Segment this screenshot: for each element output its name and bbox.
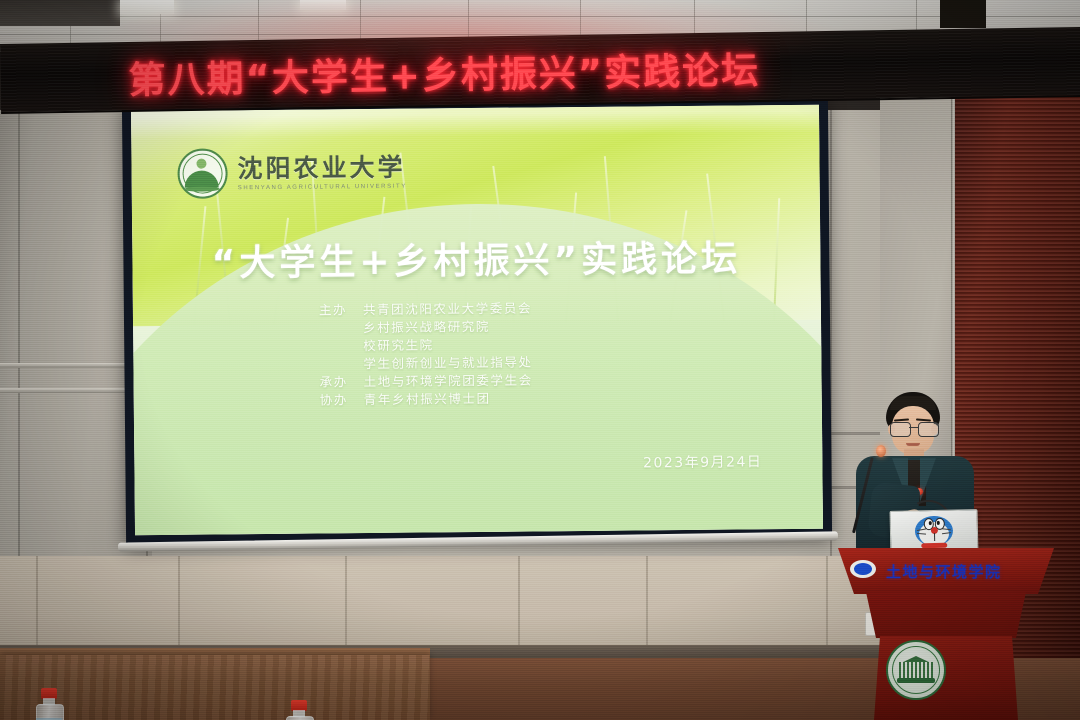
slide-organizer-list: 主办 共青团沈阳农业大学委员会 乡村振兴战略研究院 校研究生院 学生创新创业与就… (319, 299, 533, 409)
glasses-icon (889, 422, 939, 435)
list-item: 承办 土地与环境学院团委学生会 (320, 371, 533, 391)
row-value: 学生创新创业与就业指导处 (363, 353, 532, 373)
list-item: 校研究生院 (319, 335, 532, 355)
row-value: 乡村振兴战略研究院 (363, 318, 490, 337)
podium-badge-icon (850, 560, 876, 578)
row-label: 协办 (320, 391, 350, 409)
foreground-table (0, 655, 430, 720)
university-seal-icon (886, 640, 946, 700)
microphone-head[interactable] (876, 445, 886, 457)
led-banner-text: 第八期“大学生+乡村振兴”实践论坛 (128, 40, 760, 104)
row-value: 土地与环境学院团委学生会 (364, 371, 533, 391)
ceiling-light (300, 0, 346, 10)
row-label (319, 319, 349, 337)
university-name-cn: 沈阳农业大学 (237, 154, 406, 181)
ceiling-corner-box (940, 0, 986, 28)
row-label: 承办 (320, 373, 350, 391)
list-item: 协办 青年乡村振兴博士团 (320, 389, 533, 409)
university-name-en: SHENYANG AGRICULTURAL UNIVERSITY (238, 183, 407, 191)
row-label: 主办 (319, 301, 349, 319)
row-label (319, 355, 349, 373)
row-value: 共青团沈阳农业大学委员会 (363, 299, 532, 319)
row-value: 青年乡村振兴博士团 (364, 390, 491, 409)
podium: 土地与环境学院 (838, 548, 1054, 720)
list-item: 主办 共青团沈阳农业大学委员会 (319, 299, 532, 319)
projection-screen: 沈阳农业大学 SHENYANG AGRICULTURAL UNIVERSITY … (122, 97, 832, 544)
row-value: 校研究生院 (363, 336, 434, 355)
university-emblem-icon (177, 148, 227, 198)
lecture-hall-photo: 沈阳农业大学 SHENYANG AGRICULTURAL UNIVERSITY … (0, 0, 1080, 720)
list-item: 学生创新创业与就业指导处 (319, 353, 532, 373)
ceiling-duct (0, 0, 120, 26)
podium-front-text: 土地与环境学院 (886, 561, 1002, 582)
list-item: 乡村振兴战略研究院 (319, 317, 532, 337)
doraemon-sticker-icon (915, 516, 954, 551)
ceiling-light (120, 0, 174, 14)
mouth (906, 443, 920, 446)
slide-logo: 沈阳农业大学 SHENYANG AGRICULTURAL UNIVERSITY (177, 147, 407, 199)
row-label (319, 337, 349, 355)
presentation-slide: 沈阳农业大学 SHENYANG AGRICULTURAL UNIVERSITY … (131, 105, 823, 536)
lapel-right (920, 458, 936, 502)
podium-body (866, 592, 1026, 638)
slide-title: “大学生+乡村振兴”实践论坛 (132, 229, 820, 288)
slide-date: 2023年9月24日 (643, 451, 763, 472)
